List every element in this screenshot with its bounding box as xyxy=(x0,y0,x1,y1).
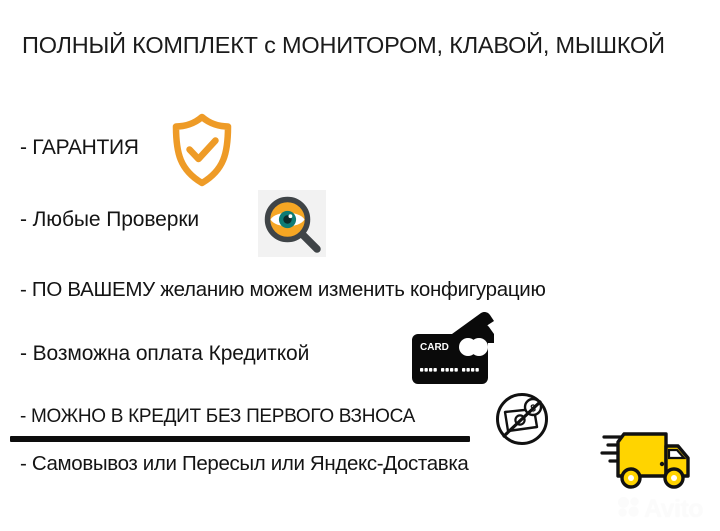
credit-card-icon: CARD xyxy=(408,312,496,386)
card-label: CARD xyxy=(420,342,449,353)
magnifier-eye-icon xyxy=(258,190,326,257)
shield-check-icon xyxy=(168,113,236,187)
bullet-item-no-down-payment: - МОЖНО В КРЕДИТ БЕЗ ПЕРВОГО ВЗНОСА xyxy=(20,406,415,428)
promo-slide: ПОЛНЫЙ КОМПЛЕКТ с МОНИТОРОМ, КЛАВОЙ, МЫШ… xyxy=(0,0,720,531)
avito-watermark-text: Avito xyxy=(644,497,703,522)
bullet-item-card-payment: - Возможна оплата Кредиткой xyxy=(20,342,309,366)
avito-watermark: Avito xyxy=(617,495,713,523)
avito-dots-logo-icon xyxy=(617,496,641,523)
bullet-item-warranty: - ГАРАНТИЯ xyxy=(20,136,139,160)
no-cash-icon: $ xyxy=(494,390,550,448)
delivery-truck-icon xyxy=(600,428,692,496)
emphasis-underline-bar xyxy=(10,436,470,442)
bullet-item-inspections: - Любые Проверки xyxy=(20,208,199,232)
bullet-item-configuration: - ПО ВАШЕМУ желанию можем изменить конфи… xyxy=(20,278,546,302)
bullet-item-delivery: - Самовывоз или Пересыл или Яндекс-Доста… xyxy=(20,452,468,476)
page-title: ПОЛНЫЙ КОМПЛЕКТ с МОНИТОРОМ, КЛАВОЙ, МЫШ… xyxy=(22,32,665,59)
